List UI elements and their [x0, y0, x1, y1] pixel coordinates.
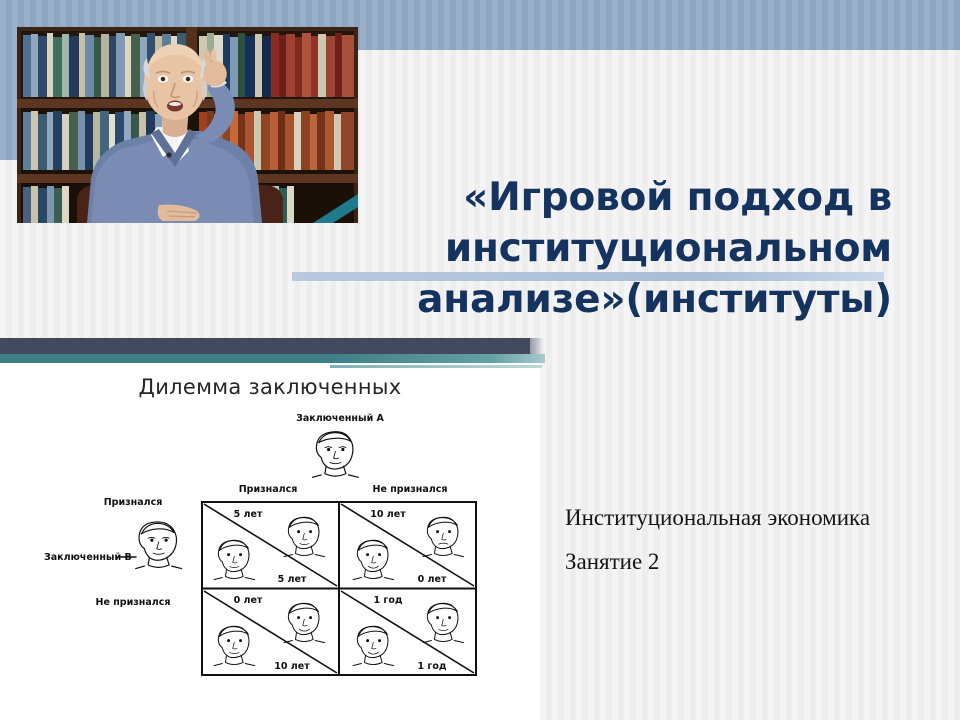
title-line-3: анализе»(институты)	[180, 274, 892, 325]
cell-1-0-lower: 10 лет	[274, 661, 310, 672]
face-cell-1-1-lower	[353, 626, 394, 665]
payoff-matrix	[202, 502, 476, 675]
divider-bar-teal-thin	[330, 365, 542, 368]
face-cell-0-1-upper	[423, 517, 464, 556]
cell-0-1-upper: 10 лет	[370, 509, 406, 520]
cell-1-0-upper: 0 лет	[234, 595, 263, 606]
slide-body-text: Институциональная экономика Занятие 2	[565, 500, 945, 588]
face-cell-0-1-lower	[353, 540, 394, 579]
cell-0-1-lower: 0 лет	[418, 574, 447, 585]
row-header-1: Не признался	[96, 597, 171, 608]
diagram-panel: Дилемма заключенных .dlbl { font-family:…	[0, 363, 540, 720]
column-player-label: Заключенный А	[296, 413, 384, 424]
body-paragraph-2: Занятие 2	[565, 544, 945, 579]
body-line-2: экономика	[767, 505, 870, 530]
body-paragraph-1: Институциональная экономика	[565, 500, 945, 535]
face-cell-1-0-upper	[284, 603, 325, 642]
prisoners-dilemma-diagram: .dlbl { font-family: "DejaVu Sans", sans…	[0, 405, 540, 715]
column-header-0: Признался	[239, 484, 298, 495]
body-line-1: Институциональная	[565, 505, 762, 530]
face-cell-1-0-lower	[214, 626, 255, 665]
title-line-2: институциональном	[180, 223, 892, 274]
face-cell-0-0-upper	[284, 517, 325, 556]
slide-title: «Игровой подход в институциональном анал…	[180, 172, 892, 325]
cell-0-0-upper: 5 лет	[234, 509, 263, 520]
slide-canvas: «Игровой подход в институциональном анал…	[0, 0, 960, 720]
title-line-1: «Игровой подход в	[180, 172, 892, 223]
divider-bar-dark-fade	[518, 338, 544, 354]
face-cell-0-0-lower	[214, 540, 255, 579]
cell-1-1-upper: 1 год	[373, 595, 402, 606]
divider-bar-dark	[0, 338, 530, 354]
diagram-heading: Дилемма заключенных	[0, 375, 540, 399]
column-header-1: Не признался	[373, 484, 448, 495]
face-row-player	[136, 522, 182, 569]
cell-0-0-lower: 5 лет	[278, 574, 307, 585]
face-column-player	[312, 432, 358, 478]
divider-bar-teal-extension	[330, 354, 545, 363]
cell-1-1-lower: 1 год	[417, 661, 446, 672]
face-cell-1-1-upper	[423, 603, 464, 642]
row-header-0: Признался	[104, 497, 163, 508]
